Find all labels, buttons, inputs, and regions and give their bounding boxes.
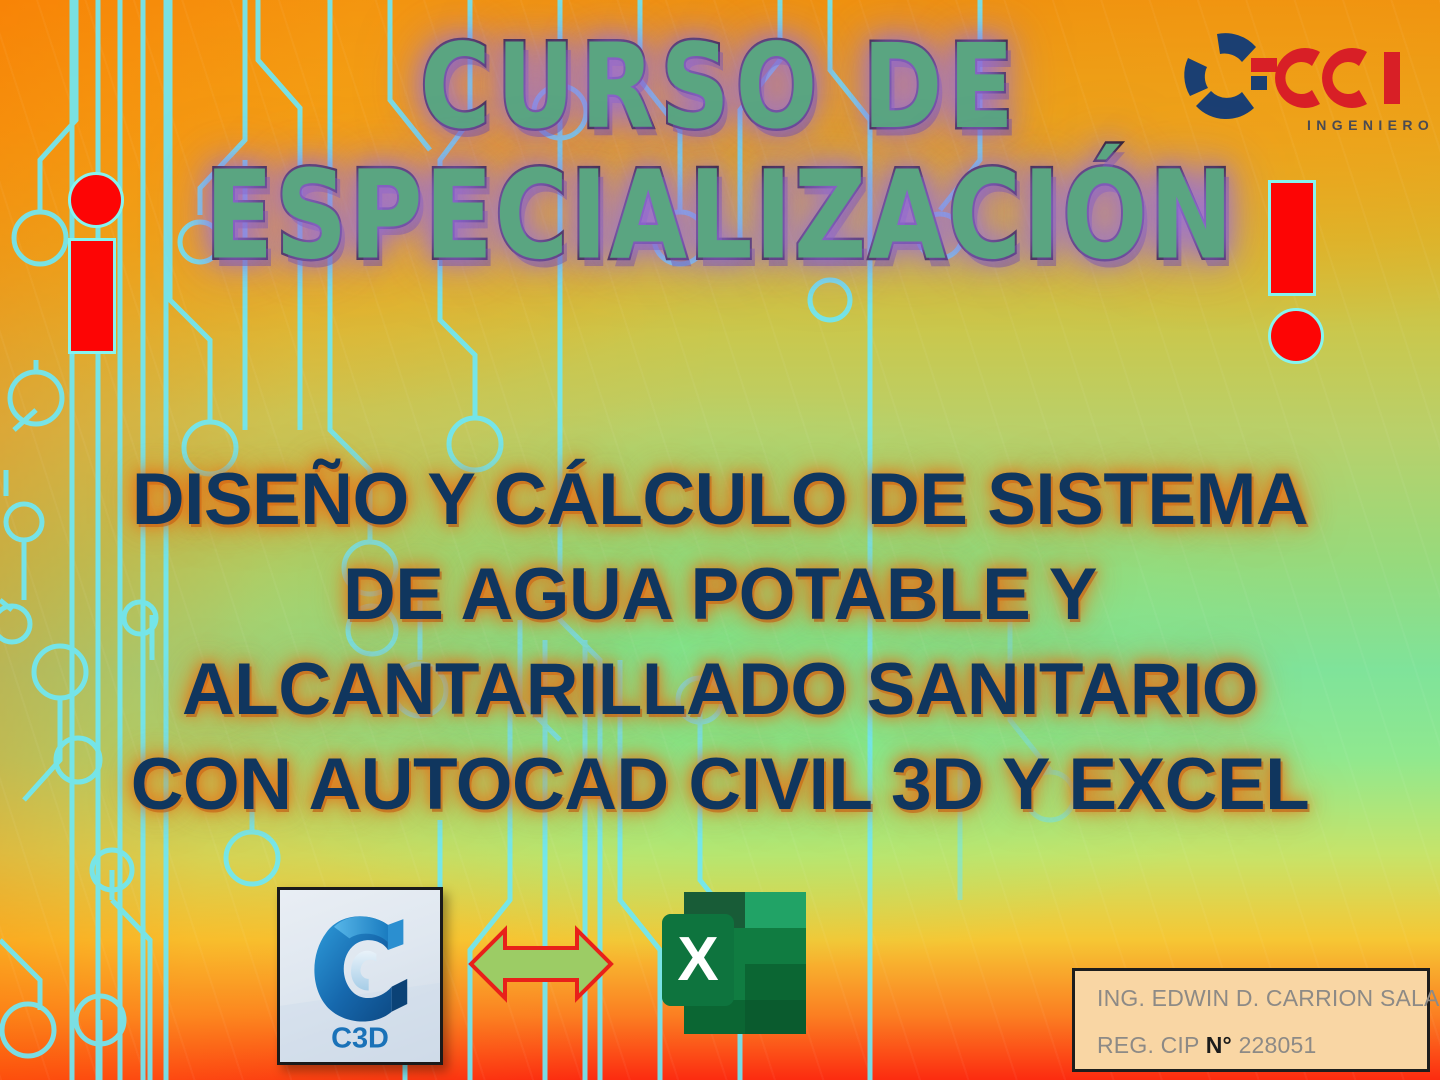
inverted-exclamation-icon xyxy=(68,172,124,354)
course-title-line-4: CON AUTOCAD CIVIL 3D Y EXCEL xyxy=(0,737,1440,832)
exclamation-dot xyxy=(68,172,124,228)
exclamation-bar xyxy=(1268,180,1316,296)
registry-number: 228051 xyxy=(1239,1032,1317,1058)
registry-number-symbol: N° xyxy=(1206,1032,1232,1058)
registry-prefix: REG. CIP xyxy=(1097,1032,1199,1058)
bidirectional-arrow-icon xyxy=(467,918,615,1010)
exclamation-bar xyxy=(68,238,116,354)
instructor-registry: REG. CIP N° 228051 xyxy=(1097,1032,1427,1059)
course-title-line-1: DISEÑO Y CÁLCULO DE SISTEMA xyxy=(0,452,1440,547)
course-poster: INGENIEROS CURSO DE ESPECIALIZACIÓN DISE… xyxy=(0,0,1440,1080)
course-title-line-3: ALCANTARILLADO SANITARIO xyxy=(0,642,1440,737)
c3d-label: C3D xyxy=(331,1022,389,1054)
excel-x-tile: X xyxy=(662,914,734,1006)
exclamation-dot xyxy=(1268,308,1324,364)
excel-x-label: X xyxy=(677,925,718,994)
microsoft-excel-icon: X xyxy=(662,886,812,1044)
instructor-name: ING. EDWIN D. CARRION SALAZAR xyxy=(1097,985,1427,1012)
instructor-credential-box: ING. EDWIN D. CARRION SALAZAR REG. CIP N… xyxy=(1072,968,1430,1072)
headline-block: CURSO DE ESPECIALIZACIÓN xyxy=(0,28,1440,256)
autocad-civil-3d-icon: C3D xyxy=(277,887,443,1065)
headline-line-curso: CURSO DE xyxy=(0,28,1440,147)
exclamation-icon xyxy=(1268,180,1324,364)
headline-line-especializacion: ESPECIALIZACIÓN xyxy=(0,154,1440,278)
course-title-line-2: DE AGUA POTABLE Y xyxy=(0,547,1440,642)
course-title: DISEÑO Y CÁLCULO DE SISTEMA DE AGUA POTA… xyxy=(0,452,1440,832)
